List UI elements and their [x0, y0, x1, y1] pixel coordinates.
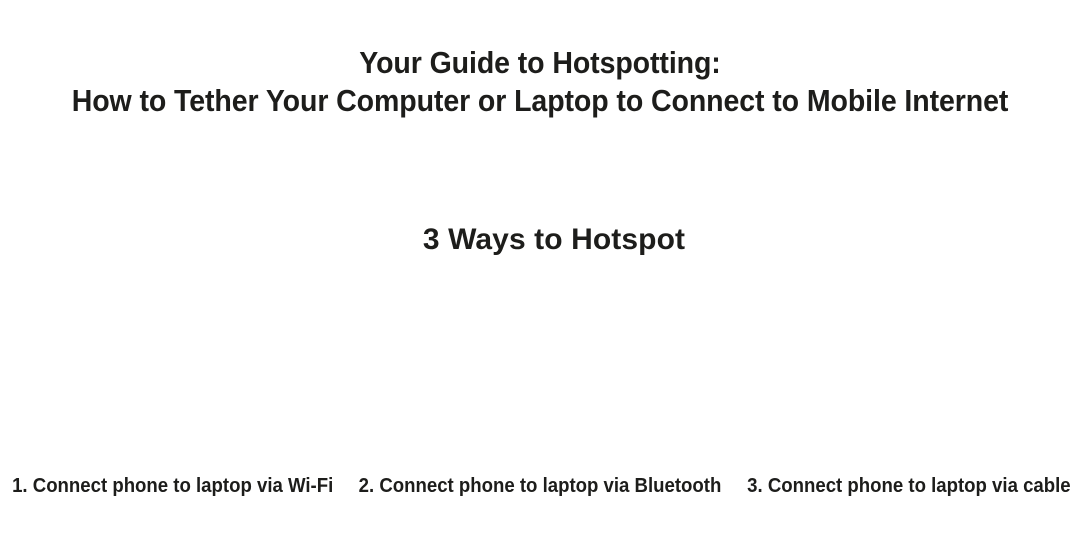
steps-row: 1. Connect phone to laptop via Wi-Fi 2. …	[0, 285, 1080, 520]
page-title-line-1: Your Guide to Hotspotting:	[43, 44, 1037, 82]
step-image-wifi	[0, 285, 345, 474]
step-caption-wifi: 1. Connect phone to laptop via Wi-Fi	[12, 474, 333, 520]
section-heading-text: 3 Ways to Hotspot	[423, 223, 685, 256]
page-title: Your Guide to Hotspotting: How to Tether…	[0, 44, 1080, 120]
section-heading: 3 Ways to Hotspot	[0, 222, 1080, 258]
step-column-wifi: 1. Connect phone to laptop via Wi-Fi	[0, 285, 345, 520]
step-image-bluetooth	[345, 285, 735, 474]
step-caption-cable: 3. Connect phone to laptop via cable	[748, 474, 1071, 520]
step-image-cable	[735, 285, 1080, 474]
article-page: Your Guide to Hotspotting: How to Tether…	[0, 0, 1080, 552]
step-column-cable: 3. Connect phone to laptop via cable	[735, 285, 1080, 520]
page-title-line-2: How to Tether Your Computer or Laptop to…	[43, 82, 1037, 120]
step-column-bluetooth: 2. Connect phone to laptop via Bluetooth	[345, 285, 735, 520]
step-caption-bluetooth: 2. Connect phone to laptop via Bluetooth	[359, 474, 722, 520]
